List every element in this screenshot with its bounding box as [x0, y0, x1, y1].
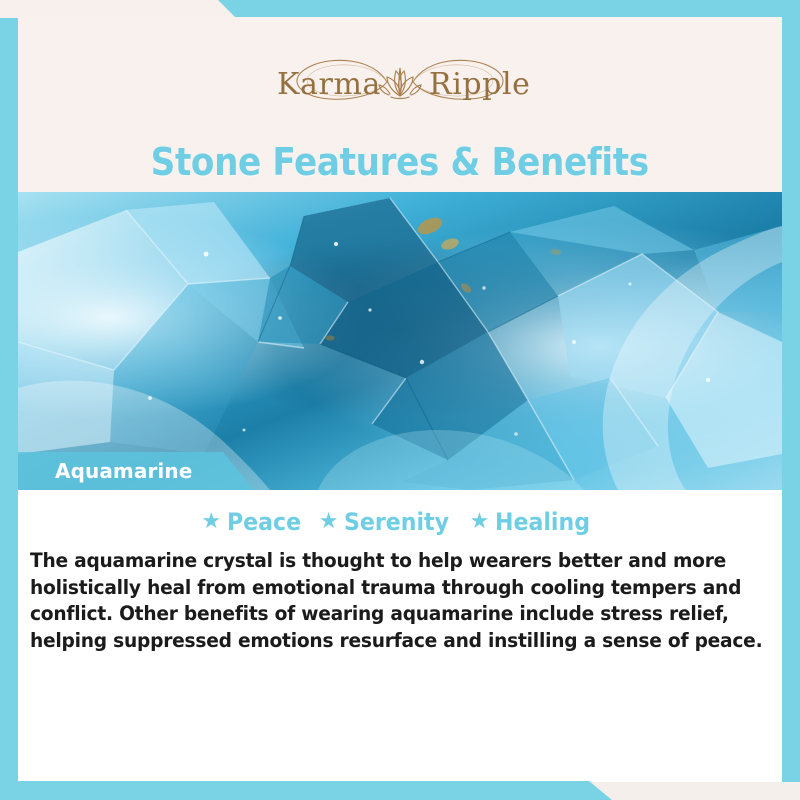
- infographic-card: Karma Ripple Stone Features & Benefits: [0, 0, 800, 800]
- keyword-label: Serenity: [344, 510, 449, 534]
- svg-text:Karma: Karma: [277, 67, 381, 102]
- stone-name-label: Aquamarine: [55, 461, 192, 481]
- keyword-list: ★ Peace ★ Serenity ★ Healing: [18, 490, 782, 534]
- keyword-item-peace: ★ Peace: [201, 510, 307, 534]
- page-title-wrap: Stone Features & Benefits: [18, 143, 782, 181]
- svg-text:Ripple: Ripple: [429, 67, 531, 102]
- star-icon: ★: [201, 510, 221, 532]
- stone-description: The aquamarine crystal is thought to hel…: [30, 548, 773, 655]
- keyword-label: Healing: [495, 510, 590, 534]
- bottom-left-blue-wedge: [0, 781, 615, 800]
- brand-logo[interactable]: Karma Ripple: [18, 45, 782, 119]
- star-icon: ★: [319, 510, 339, 532]
- header-section: Karma Ripple Stone Features & Benefits: [18, 17, 782, 192]
- stone-name-banner: Aquamarine: [18, 452, 254, 490]
- page-title: Stone Features & Benefits: [151, 143, 649, 181]
- top-left-cream-wedge: [0, 0, 240, 18]
- star-icon: ★: [470, 510, 490, 532]
- content-panel: Karma Ripple Stone Features & Benefits: [18, 17, 782, 783]
- keyword-item-serenity: ★ Serenity: [319, 510, 459, 534]
- hero-image: Aquamarine: [18, 192, 782, 490]
- body-section: ★ Peace ★ Serenity ★ Healing The aquamar…: [18, 490, 782, 655]
- keyword-item-healing: ★ Healing: [470, 510, 599, 534]
- keyword-label: Peace: [227, 510, 301, 534]
- aquamarine-crystal-photo: [18, 192, 782, 490]
